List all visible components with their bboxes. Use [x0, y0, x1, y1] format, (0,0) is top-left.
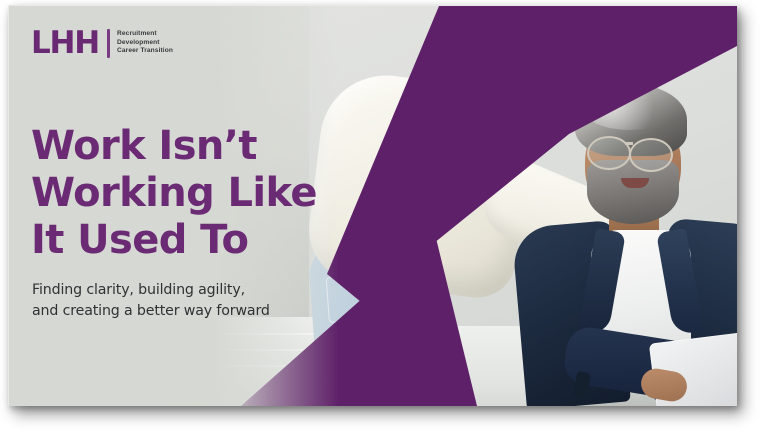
lhh-logo[interactable]: LHH Recruitment Development Career Trans… — [31, 28, 173, 59]
logo-tagline-line-3: Career Transition — [117, 47, 173, 56]
headline-line-2: Working Like — [31, 170, 331, 217]
logo-tagline-line-1: Recruitment — [117, 30, 173, 39]
page-subtitle: Finding clarity, building agility, and c… — [32, 280, 332, 321]
subtitle-line-2: and creating a better way forward — [32, 301, 332, 322]
subtitle-line-1: Finding clarity, building agility, — [32, 280, 332, 301]
logo-divider-rule — [107, 29, 110, 58]
headline-line-1: Work Isn’t — [31, 123, 331, 170]
slide-card: LHH Recruitment Development Career Trans… — [8, 5, 737, 406]
lhh-wordmark: LHH — [31, 28, 99, 59]
logo-tagline: Recruitment Development Career Transitio… — [117, 28, 173, 56]
headline-line-3: It Used To — [31, 217, 331, 264]
logo-tagline-line-2: Development — [117, 39, 173, 48]
page-title: Work Isn’t Working Like It Used To — [31, 123, 331, 264]
slide-canvas: LHH Recruitment Development Career Trans… — [0, 0, 768, 432]
swoosh-band-upper — [327, 6, 737, 302]
